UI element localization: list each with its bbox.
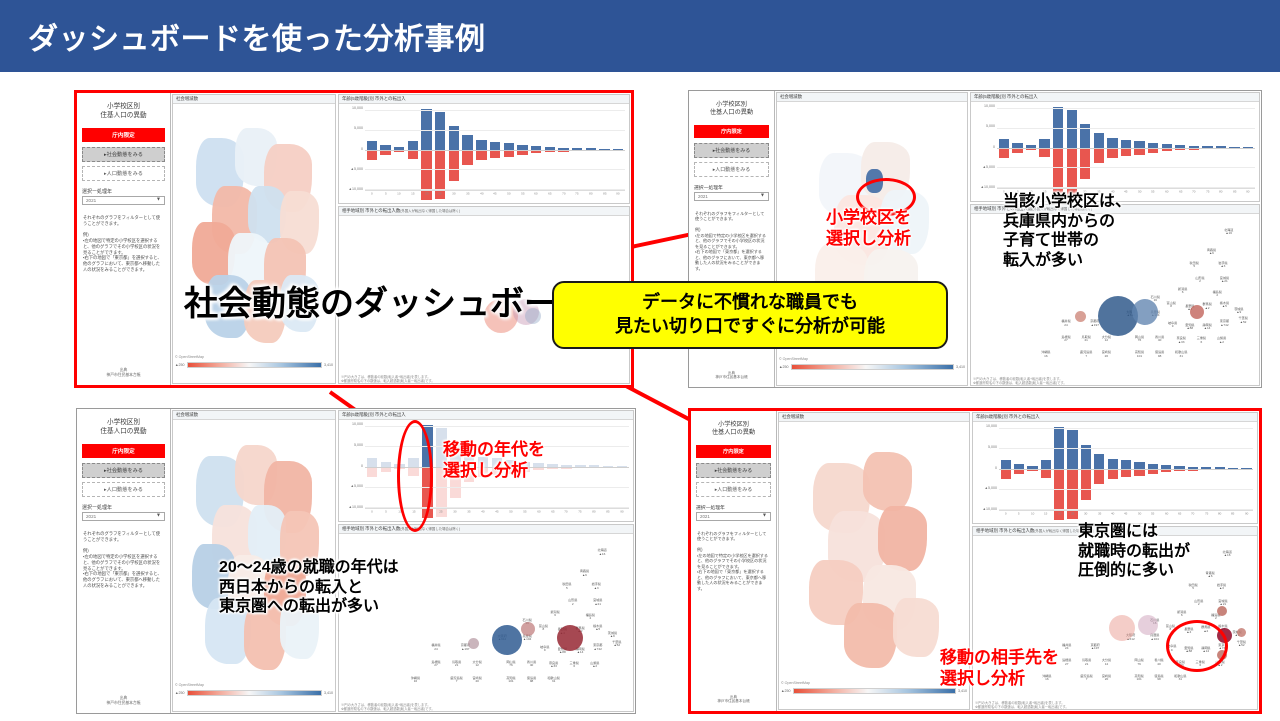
- sidebar-source: 出典 神戸市住民基本台帳: [694, 695, 773, 707]
- dashboard-sidebar[interactable]: 小学校区別 住基人口の異動 庁内限定 ▸社会動態をみる ▸人口動態をみる 選択ー…: [77, 93, 171, 385]
- prefecture-label[interactable]: 徳島県 98: [1154, 675, 1163, 681]
- prefecture-label[interactable]: 富山県 8: [539, 625, 548, 631]
- year-select[interactable]: 2021 ▼: [694, 192, 769, 201]
- x-axis-tick: 0: [1000, 512, 1012, 523]
- bar-chart-pane[interactable]: 年齢(5歳階級)別 市外との転出入 10,0005,0000▲5,000▲10,…: [970, 92, 1260, 202]
- y-axis-tick: 0: [361, 147, 363, 151]
- bar-inflow: [1134, 141, 1144, 148]
- osm-credit: © OpenStreetMap: [779, 357, 808, 361]
- bar-outflow: [1081, 469, 1091, 501]
- prefecture-label[interactable]: 北海道 ▲16: [597, 549, 606, 555]
- x-axis-tick: 85: [598, 192, 610, 203]
- year-select-value: 2021: [700, 514, 710, 519]
- prefecture-label[interactable]: 京都府 ▲197: [1090, 644, 1099, 650]
- y-axis-tick: 0: [993, 145, 995, 149]
- bar-inflow: [1094, 454, 1104, 469]
- prefecture-label[interactable]: 福井県 24: [1061, 320, 1070, 326]
- legend-min-label: ▲250: [779, 365, 789, 369]
- prefecture-label[interactable]: 福島県 2: [1213, 291, 1222, 297]
- prefecture-label[interactable]: 宮城県 ▲21: [1220, 277, 1229, 283]
- chevron-down-icon: ▼: [156, 197, 161, 203]
- gridline: [365, 110, 625, 111]
- legend-color-ramp: [793, 688, 956, 694]
- prefecture-label[interactable]: 鳥取県 21: [1082, 336, 1091, 342]
- prefecture-label[interactable]: 鹿児島県 7: [1080, 351, 1092, 357]
- prefecture-label[interactable]: 福島県 2: [586, 614, 595, 620]
- sidebar-title: 小学校区別 住基人口の異動: [694, 421, 773, 438]
- x-axis-tick: 25: [435, 510, 448, 521]
- annotation-age-20-24: 20〜24歳の就職の年代は 西日本からの転入と 東京圏への転出が多い: [219, 558, 399, 617]
- bubble-map-title-main: 相手地域別 市外との転出入数: [976, 528, 1034, 533]
- bubble-kyoto[interactable]: [468, 638, 479, 649]
- prefecture-label[interactable]: 和歌山県 31: [547, 676, 559, 682]
- prefecture-label[interactable]: 秋田県 5: [562, 583, 571, 589]
- x-axis-tick: 45: [489, 192, 501, 203]
- prefecture-label[interactable]: 島根県 27: [1061, 336, 1070, 342]
- bar-inflow: [1041, 460, 1051, 469]
- prefecture-label[interactable]: 静岡県 ▲14: [1203, 323, 1212, 329]
- bar-outflow: [504, 150, 514, 157]
- year-select-value: 2021: [698, 194, 708, 199]
- bubble-osaka[interactable]: [1132, 299, 1158, 325]
- prefecture-label[interactable]: 千葉県 ▲52: [1239, 317, 1248, 323]
- prefecture-label[interactable]: 山梨県 ▲2: [1217, 337, 1226, 343]
- button-population-dynamics[interactable]: ▸人口動態をみる: [696, 482, 771, 497]
- prefecture-label[interactable]: 宮崎県 20: [1102, 675, 1111, 681]
- prefecture-label[interactable]: 高知県 101: [506, 676, 515, 682]
- bar-outflow: [1134, 148, 1144, 155]
- bar-chart-pane[interactable]: 年齢(5歳階級)別 市外との転出入 10,0005,0000▲5,000▲10,…: [338, 94, 630, 204]
- bar-chart-y-axis: 10,0005,0000▲5,000▲10,000: [973, 426, 999, 509]
- prefecture-label[interactable]: 鳥取県 21: [452, 660, 461, 666]
- age-bar-chart[interactable]: 10,0005,0000▲5,000▲10,000 05101520253035…: [973, 426, 1255, 523]
- gridline: [999, 428, 1253, 429]
- bar-chart-y-axis: 10,0005,0000▲5,000▲10,000: [339, 108, 365, 189]
- button-population-dynamics[interactable]: ▸人口動態をみる: [694, 162, 769, 177]
- x-axis-tick: 5: [380, 510, 393, 521]
- button-social-dynamics[interactable]: ▸社会動態をみる: [82, 147, 165, 162]
- x-axis-tick: 55: [516, 192, 528, 203]
- age-bar-chart[interactable]: 10,0005,0000▲5,000▲10,000 05101520253035…: [339, 108, 627, 203]
- bar-outflow: [1121, 148, 1131, 157]
- annotation-select-destination: 移動の相手先を 選択し分析: [940, 648, 1059, 689]
- x-axis-tick: 65: [544, 192, 556, 203]
- x-axis-tick: 35: [463, 510, 476, 521]
- prefecture-label[interactable]: 岩手県 ▲3: [1217, 584, 1226, 590]
- prefecture-label[interactable]: 群馬県 ▲2: [1203, 303, 1212, 309]
- x-axis-tick: 45: [491, 510, 504, 521]
- y-axis-tick: 0: [995, 466, 997, 470]
- prefecture-label[interactable]: 富山県 8: [1167, 302, 1176, 308]
- year-select-value: 2021: [86, 514, 96, 519]
- prefecture-label[interactable]: 高知県 101: [1135, 351, 1144, 357]
- prefecture-label[interactable]: 宮城県 ▲21: [593, 599, 602, 605]
- page-title: ダッシュボードを使った分析事例: [28, 14, 486, 58]
- prefecture-label[interactable]: 宮城県 ▲21: [1218, 600, 1227, 606]
- map-pane-title: 社会増減数: [173, 95, 335, 104]
- annotation-select-age: 移動の年代を 選択し分析: [443, 440, 545, 481]
- prefecture-label[interactable]: 青森県 ▲6: [580, 570, 589, 576]
- legend-color-ramp: [187, 690, 322, 696]
- bubble-saitama[interactable]: [1237, 628, 1246, 637]
- prefecture-label[interactable]: 香川県 40: [1154, 659, 1163, 665]
- bar-inflow: [1134, 462, 1144, 469]
- prefecture-label[interactable]: 島根県 27: [431, 660, 440, 666]
- map-pane-title: 社会増減数: [173, 411, 335, 420]
- bar-chart-plot: [999, 428, 1253, 509]
- legend-min-label: ▲250: [175, 691, 185, 695]
- button-internal-only[interactable]: 庁内限定: [694, 125, 769, 138]
- prefecture-label[interactable]: 山形県 2: [568, 599, 577, 605]
- year-select[interactable]: 2021 ▼: [82, 512, 165, 521]
- bubble-tokyo[interactable]: [557, 625, 583, 651]
- x-axis-tick: 70: [1187, 512, 1199, 523]
- year-select[interactable]: 2021 ▼: [696, 512, 771, 521]
- x-axis-tick: 65: [1174, 512, 1186, 523]
- prefecture-label[interactable]: 和歌山県 31: [1174, 675, 1186, 681]
- bar-inflow: [999, 139, 1009, 147]
- prefecture-label[interactable]: 栃木県 ▲5: [1220, 302, 1229, 308]
- gridline: [365, 130, 625, 131]
- prefecture-label[interactable]: 奈良県 ▲33: [549, 662, 558, 668]
- prefecture-label[interactable]: 愛知県 ▲88: [1185, 323, 1194, 329]
- prefecture-label[interactable]: 鳥取県 21: [1082, 659, 1091, 665]
- legend-color-ramp: [187, 362, 322, 368]
- osm-credit: © OpenStreetMap: [175, 355, 204, 359]
- x-axis-tick: 55: [518, 510, 531, 521]
- sidebar-title: 小学校区別 住基人口の異動: [80, 419, 167, 437]
- bar-chart-pane[interactable]: 年齢(5歳階級)別 市外との転出入 10,0005,0000▲5,000▲10,…: [972, 412, 1258, 524]
- bar-outflow: [367, 150, 377, 160]
- legend-max-label: 3,410: [324, 691, 333, 695]
- x-axis-tick: 50: [505, 510, 518, 521]
- prefecture-label[interactable]: 宮崎県 20: [1102, 351, 1111, 357]
- zero-line: [997, 148, 1255, 149]
- bubble-kyoto[interactable]: [1075, 311, 1086, 322]
- prefecture-label[interactable]: 岡山県 76: [506, 660, 515, 666]
- bar-outflow: [367, 467, 378, 478]
- legend-color-ramp: [791, 364, 954, 370]
- prefecture-label[interactable]: 新潟県 6: [1178, 288, 1187, 294]
- sidebar-note: それぞれのグラフをフィルターとして使うことができます。 例) ・左の地図で特定の…: [695, 211, 768, 272]
- prefecture-label[interactable]: 沖縄県 16: [411, 676, 420, 682]
- prefecture-label[interactable]: 岩手県 ▲3: [592, 583, 601, 589]
- prefecture-label[interactable]: 東京都 ▲742: [593, 644, 602, 650]
- x-axis-tick: 10: [393, 192, 405, 203]
- prefecture-label[interactable]: 岐阜県 9: [1168, 322, 1177, 328]
- prefecture-label[interactable]: 山形県 2: [1195, 277, 1204, 283]
- x-axis-tick: 85: [1229, 190, 1241, 201]
- zero-line: [365, 150, 625, 151]
- bar-chart-title: 年齢(5歳階級)別 市外との転出入: [973, 413, 1257, 422]
- year-select-label: 選択ー処理年: [82, 504, 165, 511]
- prefecture-label[interactable]: 岡山県 76: [1134, 659, 1143, 665]
- prefecture-label[interactable]: 島根県 27: [1062, 659, 1071, 665]
- prefecture-label[interactable]: 秋田県 5: [1188, 584, 1197, 590]
- x-axis-tick: 15: [1040, 512, 1052, 523]
- x-axis-tick: 90: [1242, 190, 1254, 201]
- prefecture-label[interactable]: 岡山県 76: [1135, 336, 1144, 342]
- x-axis-tick: 5: [1013, 512, 1025, 523]
- x-axis-tick: 25: [1067, 512, 1079, 523]
- x-axis-tick: 90: [1240, 512, 1252, 523]
- y-axis-tick: ▲5,000: [982, 165, 995, 169]
- bar-outflow: [1094, 148, 1104, 163]
- prefecture-label[interactable]: 徳島県 98: [1155, 351, 1164, 357]
- x-axis-tick: 70: [1188, 190, 1200, 201]
- bubble-map-title: 相手地域別 市外との転出入数(外国人が転出なく帰国した場合は除く): [339, 525, 633, 534]
- prefecture-label[interactable]: 福井県 24: [1062, 644, 1071, 650]
- bar-chart-title: 年齢(5歳階級)別 市外との転出入: [339, 411, 633, 420]
- x-axis-tick: 75: [574, 510, 587, 521]
- gridline: [365, 426, 629, 427]
- bar-inflow: [1094, 133, 1104, 147]
- year-select-label: 選択ー処理年: [694, 184, 769, 191]
- x-axis-tick: 50: [1133, 190, 1145, 201]
- prefecture-label[interactable]: 大分県 12: [1102, 659, 1111, 665]
- osm-credit: © OpenStreetMap: [175, 683, 204, 687]
- x-axis-tick: 50: [503, 192, 515, 203]
- bar-chart-y-axis: 10,0005,0000▲5,000▲10,000: [971, 106, 997, 187]
- x-axis-tick: 65: [1174, 190, 1186, 201]
- bar-chart-plot: [365, 110, 625, 189]
- legend-min-label: ▲250: [175, 363, 185, 367]
- prefecture-label[interactable]: 山梨県 ▲2: [590, 662, 599, 668]
- button-internal-only[interactable]: 庁内限定: [82, 128, 165, 142]
- gridline: [999, 448, 1253, 449]
- x-axis-tick: 60: [1161, 190, 1173, 201]
- prefecture-label[interactable]: 岩手県 ▲3: [1218, 261, 1227, 267]
- x-axis-tick: 5: [379, 192, 391, 203]
- bar-inflow: [490, 142, 500, 150]
- sidebar-note: それぞれのグラフをフィルターとして使うことができます。 例) ・左の地図で特定の…: [83, 531, 164, 589]
- prefecture-label[interactable]: 香川県 40: [527, 660, 536, 666]
- annotation-hyogo-inflow: 当該小学校区は、 兵庫県内からの 子育て世帯の 転入が多い: [1003, 192, 1131, 270]
- x-axis-tick: 25: [434, 192, 446, 203]
- bar-outflow: [1107, 148, 1117, 158]
- x-axis-tick: 40: [477, 510, 490, 521]
- bubble-map-title-main: 相手地域別 市外との転出入数: [342, 526, 400, 531]
- bar-inflow: [1039, 139, 1049, 148]
- bubble-map-title-main: 相手地域別 市外との転出入数: [342, 208, 400, 213]
- prefecture-label[interactable]: 鹿児島県 7: [1080, 675, 1092, 681]
- x-axis-tick: 90: [612, 192, 624, 203]
- button-population-dynamics[interactable]: ▸人口動態をみる: [82, 482, 165, 497]
- bar-outflow: [490, 150, 500, 159]
- gridline: [997, 108, 1255, 109]
- dashboard-sidebar[interactable]: 小学校区別 住基人口の異動 庁内限定 ▸社会動態をみる ▸人口動態をみる 選択ー…: [691, 411, 777, 711]
- x-axis-tick: 45: [1120, 512, 1132, 523]
- prefecture-label[interactable]: 千葉県 ▲52: [612, 641, 621, 647]
- osm-credit: © OpenStreetMap: [781, 681, 810, 685]
- prefecture-label[interactable]: 北海道 ▲16: [1224, 229, 1233, 235]
- button-social-dynamics[interactable]: ▸社会動態をみる: [696, 463, 771, 478]
- x-axis-tick: 50: [1133, 512, 1145, 523]
- legend-min-label: ▲250: [781, 689, 791, 693]
- x-axis-tick: 80: [1214, 512, 1226, 523]
- sidebar-source: 出典 神戸市住民基本台帳: [80, 696, 167, 709]
- legend-max-label: 3,410: [956, 365, 965, 369]
- prefecture-label[interactable]: 新潟県 6: [550, 610, 559, 616]
- annotation-select-school-district: 小学校区を 選択し分析: [826, 208, 911, 249]
- choropleth-map[interactable]: © OpenStreetMap ▲250 3,410: [173, 107, 335, 369]
- x-axis-tick: 75: [571, 192, 583, 203]
- prefecture-label[interactable]: 鹿児島県 7: [450, 676, 462, 682]
- sidebar-note: それぞれのグラフをフィルターとして使うことができます。 例) ・左の地図で特定の…: [83, 215, 164, 273]
- x-axis-tick: 20: [1053, 512, 1065, 523]
- year-select[interactable]: 2021 ▼: [82, 196, 165, 205]
- age-bar-chart[interactable]: 10,0005,0000▲5,000▲10,000 05101520253035…: [971, 106, 1257, 201]
- bar-outflow: [1039, 148, 1049, 157]
- y-axis-tick: 10,000: [986, 424, 997, 428]
- prefecture-label[interactable]: 大分県 12: [473, 660, 482, 666]
- bubble-kanagawa[interactable]: [1217, 606, 1227, 616]
- bar-outflow: [1134, 469, 1144, 476]
- prefecture-label[interactable]: 徳島県 98: [527, 676, 536, 682]
- year-select-label: 選択ー処理年: [696, 504, 771, 511]
- x-axis-tick: 0: [366, 192, 378, 203]
- bubble-tokyo[interactable]: [1190, 305, 1204, 319]
- bar-inflow: [1121, 140, 1131, 148]
- prefecture-label[interactable]: 茨城県 ▲9: [1234, 308, 1243, 314]
- x-axis-tick: 60: [530, 192, 542, 203]
- sidebar-note: それぞれのグラフをフィルターとして使うことができます。 例) ・左の地図で特定の…: [697, 531, 770, 592]
- button-internal-only[interactable]: 庁内限定: [696, 445, 771, 458]
- y-axis-tick: ▲10,000: [980, 185, 995, 189]
- map-pane[interactable]: 社会増減数: [172, 94, 336, 384]
- prefecture-label[interactable]: 東京都 ▲742: [1220, 320, 1229, 326]
- button-social-dynamics[interactable]: ▸社会動態をみる: [82, 463, 165, 478]
- bubble-map-footnote: ※円の大きさは、移動者の総数(転入者+転出者)を表します。 ※都道府県名の下の数…: [341, 703, 631, 711]
- bar-outflow: [408, 150, 418, 159]
- bubble-map-title: 相手地域別 市外との転出入数(外国人が転出なく帰国した場合は除く): [339, 207, 629, 216]
- bar-inflow: [1108, 459, 1118, 469]
- x-axis-tick: 30: [449, 510, 462, 521]
- bar-chart-x-axis: 051015202530354045505560657075808590: [365, 190, 625, 203]
- x-axis-tick: 15: [407, 192, 419, 203]
- prefecture-label[interactable]: 三重県 6: [1197, 337, 1206, 343]
- y-axis-tick: 5,000: [354, 443, 363, 447]
- prefecture-label[interactable]: 和歌山県 31: [1175, 351, 1187, 357]
- prefecture-label[interactable]: 福井県 24: [431, 644, 440, 650]
- map-pane-title: 社会増減数: [779, 413, 969, 422]
- x-axis-tick: 0: [366, 510, 379, 521]
- bubble-map-title-sub: (外国人が転出なく帰国した場合は除く): [400, 209, 460, 213]
- dashboard-card-1[interactable]: 小学校区別 住基人口の異動 庁内限定 ▸社会動態をみる ▸人口動態をみる 選択ー…: [74, 90, 634, 388]
- bar-inflow: [504, 143, 514, 150]
- zero-line: [999, 469, 1253, 470]
- prefecture-label[interactable]: 岐阜県 9: [540, 646, 549, 652]
- y-axis-tick: 5,000: [986, 124, 995, 128]
- bar-outflow: [462, 150, 472, 165]
- x-axis-tick: 85: [602, 510, 615, 521]
- bar-chart-plot: [997, 108, 1255, 187]
- dashboard-sidebar[interactable]: 小学校区別 住基人口の異動 庁内限定 ▸社会動態をみる ▸人口動態をみる 選択ー…: [77, 409, 171, 713]
- button-population-dynamics[interactable]: ▸人口動態をみる: [82, 166, 165, 181]
- x-axis-tick: 65: [546, 510, 559, 521]
- prefecture-label[interactable]: 栃木県 ▲5: [593, 625, 602, 631]
- prefecture-label[interactable]: 高知県 101: [1134, 675, 1143, 681]
- bar-outflow: [1001, 469, 1011, 480]
- prefecture-label[interactable]: 三重県 6: [570, 662, 579, 668]
- year-select-label: 選択ー処理年: [82, 188, 165, 195]
- bar-chart-title: 年齢(5歳階級)別 市外との転出入: [339, 95, 629, 104]
- prefecture-label[interactable]: 青森県 ▲6: [1207, 249, 1216, 255]
- annotation-big-label: 社会動態のダッシュボード: [184, 276, 592, 325]
- x-axis-tick: 35: [1093, 512, 1105, 523]
- bar-inflow: [1107, 138, 1117, 147]
- x-axis-tick: 60: [1160, 512, 1172, 523]
- bar-outflow: [1041, 469, 1051, 479]
- bar-outflow: [449, 150, 459, 181]
- x-axis-tick: 55: [1147, 512, 1159, 523]
- x-axis-tick: 80: [1215, 190, 1227, 201]
- x-axis-tick: 10: [1026, 512, 1038, 523]
- map-legend: ▲250 3,410: [175, 361, 333, 368]
- x-axis-tick: 60: [532, 510, 545, 521]
- page-header: ダッシュボードを使った分析事例: [0, 0, 1280, 72]
- sidebar-title: 小学校区別 住基人口の異動: [692, 101, 771, 118]
- prefecture-label[interactable]: 茨城県 ▲9: [608, 631, 617, 637]
- prefecture-label[interactable]: 青森県 ▲6: [1205, 571, 1214, 577]
- ellipse-age-range: [397, 420, 433, 532]
- y-axis-tick: ▲5,000: [350, 167, 363, 171]
- x-axis-tick: 70: [557, 192, 569, 203]
- prefecture-label[interactable]: 宮崎県 20: [473, 676, 482, 682]
- bar-inflow: [1067, 110, 1077, 147]
- bar-outflow: [999, 148, 1009, 158]
- bar-inflow: [1067, 430, 1077, 468]
- bubble-kyoto[interactable]: [1138, 615, 1158, 635]
- prefecture-label[interactable]: 兵庫県 ▲104: [1150, 634, 1159, 640]
- x-axis-tick: 30: [1080, 512, 1092, 523]
- sidebar-source: 出典 神戸市住民基本台帳: [692, 371, 771, 383]
- prefecture-label[interactable]: 沖縄県 16: [1041, 351, 1050, 357]
- button-social-dynamics[interactable]: ▸社会動態をみる: [694, 143, 769, 158]
- prefecture-label[interactable]: 山形県 2: [1194, 600, 1203, 606]
- bubble-osaka[interactable]: [492, 625, 522, 655]
- prefecture-label[interactable]: 新潟県 6: [1177, 611, 1186, 617]
- bar-outflow: [1080, 148, 1090, 179]
- ellipse-destination: [1166, 620, 1228, 672]
- y-axis-tick: ▲10,000: [348, 505, 363, 509]
- sidebar-source: 出典 神戸市住民基本台帳: [80, 368, 167, 381]
- callout-box: データに不慣れな職員でも 見たい切り口ですぐに分析が可能: [552, 281, 948, 349]
- bubble-hyogo[interactable]: [521, 622, 535, 636]
- x-axis-tick: 40: [475, 192, 487, 203]
- x-axis-tick: 80: [585, 192, 597, 203]
- prefecture-label[interactable]: 千葉県 ▲52: [1237, 640, 1246, 646]
- x-axis-tick: 20: [420, 192, 432, 203]
- bar-outflow: [1108, 469, 1118, 480]
- chevron-down-icon: ▼: [156, 513, 161, 519]
- y-axis-tick: 5,000: [988, 445, 997, 449]
- prefecture-label[interactable]: 秋田県 5: [1190, 261, 1199, 267]
- y-axis-tick: ▲10,000: [348, 187, 363, 191]
- y-axis-tick: ▲10,000: [982, 507, 997, 511]
- map-pane-title: 社会増減数: [777, 93, 967, 102]
- prefecture-label[interactable]: 大分県 12: [1102, 336, 1111, 342]
- sidebar-title: 小学校区別 住基人口の異動: [80, 103, 167, 121]
- year-select-value: 2021: [86, 198, 96, 203]
- chevron-down-icon: ▼: [762, 513, 767, 519]
- bubble-map-pane[interactable]: 相手地域別 市外との転出入数(外国人が転出なく帰国した場合は除く) 和歌山県 3…: [338, 524, 634, 712]
- prefecture-label[interactable]: 香川県 40: [1155, 336, 1164, 342]
- prefecture-label[interactable]: 北海道 ▲16: [1223, 551, 1232, 557]
- button-internal-only[interactable]: 庁内限定: [82, 444, 165, 458]
- bar-outflow: [476, 150, 486, 160]
- prefecture-label[interactable]: 奈良県 ▲33: [1177, 337, 1186, 343]
